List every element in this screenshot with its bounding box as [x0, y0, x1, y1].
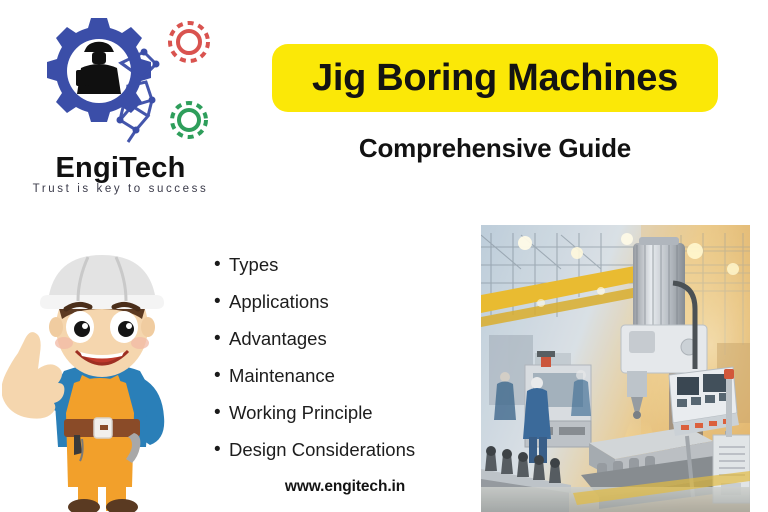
list-item: • Advantages — [214, 326, 464, 363]
bullet-icon: • — [214, 326, 229, 352]
gear-engineer-logo-icon — [16, 8, 216, 158]
jig-boring-machine-factory-photo — [481, 225, 750, 512]
title-badge: Jig Boring Machines — [272, 44, 718, 112]
brand-tagline: Trust is key to success — [8, 184, 233, 196]
page-subtitle: Comprehensive Guide — [272, 134, 718, 163]
list-item: • Working Principle — [214, 400, 464, 437]
list-item-label: Design Considerations — [229, 437, 415, 463]
bullet-icon: • — [214, 437, 229, 463]
bullet-icon: • — [214, 400, 229, 426]
list-item-label: Working Principle — [229, 400, 373, 426]
brand-name: EngiTech — [8, 154, 233, 183]
engineer-mascot-pointing-up-icon — [2, 243, 198, 512]
bullet-icon: • — [214, 363, 229, 389]
list-item-label: Applications — [229, 289, 329, 315]
bullet-icon: • — [214, 289, 229, 315]
poster-canvas: EngiTech Trust is key to success Jig Bor… — [0, 0, 768, 512]
list-item: • Applications — [214, 289, 464, 326]
list-item-label: Types — [229, 252, 278, 278]
brand-logo-block: EngiTech Trust is key to success — [8, 8, 248, 203]
site-url: www.engitech.in — [200, 478, 490, 496]
bullet-icon: • — [214, 252, 229, 278]
list-item: • Design Considerations — [214, 437, 464, 474]
list-item-label: Maintenance — [229, 363, 335, 389]
list-item: • Maintenance — [214, 363, 464, 400]
list-item: • Types — [214, 252, 464, 289]
page-title: Jig Boring Machines — [312, 59, 678, 97]
list-item-label: Advantages — [229, 326, 327, 352]
topics-list: • Types • Applications • Advantages • Ma… — [214, 252, 464, 474]
